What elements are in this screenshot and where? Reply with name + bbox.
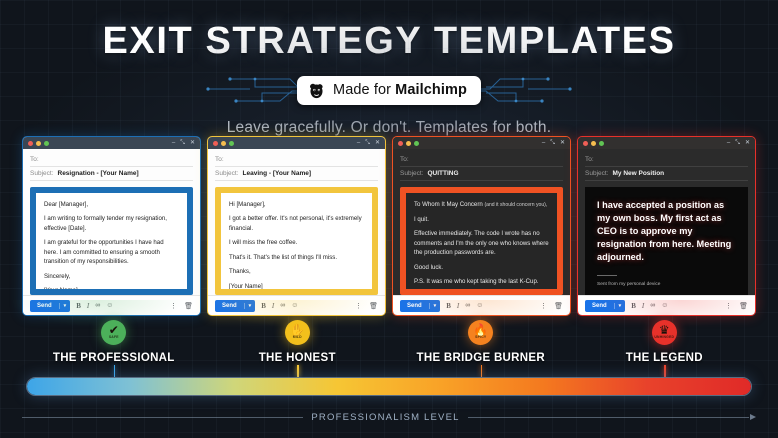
card-body[interactable]: Hi [Manager],I got a better offer. It's …: [208, 183, 385, 295]
toolbar-right: ⋮🗑: [540, 302, 563, 310]
close-icon[interactable]: ✕: [190, 140, 195, 146]
bold-icon[interactable]: B: [446, 302, 451, 310]
meter-tick-4: [664, 365, 666, 377]
minimize-dot-icon[interactable]: [221, 141, 226, 146]
bold-icon[interactable]: B: [631, 302, 636, 310]
professionalism-meter[interactable]: [26, 377, 752, 396]
subject-field[interactable]: Subject:QUITTING: [400, 167, 563, 181]
subject-label: Subject:: [400, 170, 424, 177]
more-options-icon[interactable]: ⋮: [540, 302, 547, 310]
minimize-icon[interactable]: –: [727, 140, 730, 146]
send-options-caret-icon[interactable]: ▾: [429, 303, 441, 309]
meter-ticks: [22, 365, 756, 377]
subject-label: Subject:: [30, 170, 54, 177]
delete-icon[interactable]: 🗑: [554, 302, 563, 310]
body-paragraph: P.S. It was me who kept taking the last …: [414, 277, 549, 286]
axis-line-right: [468, 417, 749, 418]
legend-headline: I have accepted a position as my own bos…: [597, 199, 736, 264]
link-icon[interactable]: ∞: [95, 302, 100, 309]
page-subtitle: Leave gracefully. Or don't. Templates fo…: [0, 119, 778, 137]
more-options-icon[interactable]: ⋮: [355, 302, 362, 310]
email-card-2[interactable]: –⤡✕To:Subject:Leaving - [Your Name]Hi [M…: [207, 136, 386, 316]
template-card-row: –⤡✕To:Subject:Resignation - [Your Name]D…: [22, 136, 756, 316]
close-dot-icon[interactable]: [213, 141, 218, 146]
meter-axis: PROFESSIONALISM LEVEL: [22, 404, 756, 430]
send-button[interactable]: Send▾: [585, 300, 625, 312]
badge-level-label: SPICY: [475, 336, 486, 339]
to-label: To:: [585, 156, 594, 163]
persona-badge: 🔥SPICY: [468, 320, 493, 345]
to-field[interactable]: To:: [30, 153, 193, 167]
zoom-dot-icon[interactable]: [599, 141, 604, 146]
mailchimp-badge-text: Made for Mailchimp: [333, 82, 467, 98]
minimize-icon[interactable]: –: [542, 140, 545, 146]
format-icons: BI∞☺: [76, 302, 113, 310]
compose-toolbar: Send▾BI∞☺⋮🗑: [578, 295, 755, 315]
subject-value: Resignation - [Your Name]: [58, 170, 139, 177]
italic-icon[interactable]: I: [642, 302, 644, 310]
persona-row: ✔SAFETHE PROFESSIONAL✋MILDTHE HONEST🔥SPI…: [22, 320, 756, 368]
email-card-3[interactable]: –⤡✕To:Subject:QUITTINGTo Whom It May Con…: [392, 136, 571, 316]
send-label: Send: [215, 303, 244, 309]
legend-message: I have accepted a position as my own bos…: [585, 187, 748, 295]
persona-badge: ♛UNHINGED: [652, 320, 677, 345]
maximize-icon[interactable]: ⤡: [550, 140, 555, 146]
card-header-fields: To:Subject:QUITTING: [393, 149, 570, 183]
emoji-icon[interactable]: ☺: [476, 302, 483, 309]
bold-icon[interactable]: B: [261, 302, 266, 310]
minimize-icon[interactable]: –: [357, 140, 360, 146]
body-paragraph: I got a better offer. It's not personal,…: [229, 214, 364, 233]
traffic-lights: [213, 141, 234, 146]
card-header-fields: To:Subject:My New Position: [578, 149, 755, 183]
link-icon[interactable]: ∞: [650, 302, 655, 309]
body-paragraph: I quit.: [414, 215, 549, 224]
to-field[interactable]: To:: [400, 153, 563, 167]
card-header-fields: To:Subject:Leaving - [Your Name]: [208, 149, 385, 183]
close-icon[interactable]: ✕: [375, 140, 380, 146]
body-paragraph: [Your Name]: [44, 286, 179, 289]
send-button[interactable]: Send▾: [400, 300, 440, 312]
subject-field[interactable]: Subject:Resignation - [Your Name]: [30, 167, 193, 181]
close-dot-icon[interactable]: [583, 141, 588, 146]
subject-label: Subject:: [585, 170, 609, 177]
card-body[interactable]: Dear [Manager],I am writing to formally …: [23, 183, 200, 295]
mailchimp-icon: [307, 81, 326, 100]
delete-icon[interactable]: 🗑: [739, 302, 748, 310]
accent-panel: Dear [Manager],I am writing to formally …: [30, 187, 193, 295]
send-options-caret-icon[interactable]: ▾: [244, 303, 256, 309]
window-controls: –⤡✕: [727, 140, 750, 146]
meter-tick-3: [481, 365, 483, 377]
format-icons: BI∞☺: [631, 302, 668, 310]
persona-3: 🔥SPICYTHE BRIDGE BURNER: [389, 320, 573, 368]
traffic-lights: [28, 141, 49, 146]
send-options-caret-icon[interactable]: ▾: [59, 303, 71, 309]
accent-panel: To Whom It May Concern (and it should co…: [400, 187, 563, 295]
badge-level-label: UNHINGED: [654, 336, 674, 339]
close-dot-icon[interactable]: [398, 141, 403, 146]
italic-icon[interactable]: I: [87, 302, 89, 310]
emoji-icon[interactable]: ☺: [106, 302, 113, 309]
subject-value: My New Position: [613, 170, 665, 177]
legend-signature: Sent from my personal device: [597, 282, 736, 287]
send-button[interactable]: Send▾: [30, 300, 70, 312]
body-paragraph: Hi [Manager],: [229, 200, 364, 209]
meter-gradient-fill: [27, 378, 751, 395]
persona-name: THE LEGEND: [626, 352, 703, 364]
window-controls: –⤡✕: [542, 140, 565, 146]
subject-value: QUITTING: [428, 170, 459, 177]
page-title: EXIT STRATEGY TEMPLATES: [0, 0, 778, 60]
bold-icon[interactable]: B: [76, 302, 81, 310]
persona-name: THE PROFESSIONAL: [53, 352, 175, 364]
format-icons: BI∞☺: [261, 302, 298, 310]
window-controls: –⤡✕: [172, 140, 195, 146]
body-paragraph: Sincerely,: [44, 272, 179, 281]
body-paragraph: Good luck.: [414, 263, 549, 272]
emoji-icon[interactable]: ☺: [291, 302, 298, 309]
subject-field[interactable]: Subject:Leaving - [Your Name]: [215, 167, 378, 181]
badge-prefix: Made for: [333, 82, 395, 98]
accent-panel: Hi [Manager],I got a better offer. It's …: [215, 187, 378, 295]
subject-field[interactable]: Subject:My New Position: [585, 167, 748, 181]
axis-line-left: [22, 417, 303, 418]
message-body: Dear [Manager],I am writing to formally …: [36, 193, 187, 289]
close-dot-icon[interactable]: [28, 141, 33, 146]
maximize-icon[interactable]: ⤡: [365, 140, 370, 146]
card-titlebar: –⤡✕: [208, 137, 385, 149]
send-label: Send: [400, 303, 429, 309]
compose-toolbar: Send▾BI∞☺⋮🗑: [23, 295, 200, 315]
minimize-dot-icon[interactable]: [406, 141, 411, 146]
body-paragraph: I am grateful for the opportunities I ha…: [44, 238, 179, 266]
persona-2: ✋MILDTHE HONEST: [206, 320, 390, 368]
delete-icon[interactable]: 🗑: [184, 302, 193, 310]
persona-1: ✔SAFETHE PROFESSIONAL: [22, 320, 206, 368]
traffic-lights: [398, 141, 419, 146]
body-paragraph: Dear [Manager],: [44, 200, 179, 209]
to-label: To:: [30, 156, 39, 163]
persona-4: ♛UNHINGEDTHE LEGEND: [573, 320, 757, 368]
axis-arrow-icon: [750, 414, 756, 420]
persona-name: THE BRIDGE BURNER: [417, 352, 545, 364]
persona-badge: ✋MILD: [285, 320, 310, 345]
card-body[interactable]: To Whom It May Concern (and it should co…: [393, 183, 570, 295]
italic-icon[interactable]: I: [457, 302, 459, 310]
card-body[interactable]: I have accepted a position as my own bos…: [578, 183, 755, 295]
more-options-icon[interactable]: ⋮: [725, 302, 732, 310]
poster-canvas: EXIT STRATEGY TEMPLATES: [0, 0, 778, 438]
toolbar-right: ⋮🗑: [725, 302, 748, 310]
signature-divider: [597, 275, 617, 276]
delete-icon[interactable]: 🗑: [369, 302, 378, 310]
badge-level-label: SAFE: [109, 336, 119, 339]
persona-name: THE HONEST: [259, 352, 336, 364]
body-paragraph: Effective immediately. The code I wrote …: [414, 229, 549, 257]
message-body: To Whom It May Concern (and it should co…: [406, 193, 557, 289]
persona-badge: ✔SAFE: [101, 320, 126, 345]
badge-brand: Mailchimp: [395, 82, 467, 98]
window-controls: –⤡✕: [357, 140, 380, 146]
meter-tick-2: [297, 365, 299, 377]
send-options-caret-icon[interactable]: ▾: [614, 303, 626, 309]
send-button[interactable]: Send▾: [215, 300, 255, 312]
body-paragraph: That's it. That's the list of things I'l…: [229, 253, 364, 262]
maximize-icon[interactable]: ⤡: [180, 140, 185, 146]
card-titlebar: –⤡✕: [578, 137, 755, 149]
more-options-icon[interactable]: ⋮: [170, 302, 177, 310]
zoom-dot-icon[interactable]: [229, 141, 234, 146]
compose-toolbar: Send▾BI∞☺⋮🗑: [393, 295, 570, 315]
body-paragraph: [Your Name]: [229, 282, 364, 289]
link-icon[interactable]: ∞: [280, 302, 285, 309]
toolbar-right: ⋮🗑: [355, 302, 378, 310]
subject-label: Subject:: [215, 170, 239, 177]
to-field[interactable]: To:: [585, 153, 748, 167]
send-label: Send: [585, 303, 614, 309]
to-field[interactable]: To:: [215, 153, 378, 167]
badge-level-label: MILD: [293, 336, 302, 339]
email-card-4[interactable]: –⤡✕To:Subject:My New PositionI have acce…: [577, 136, 756, 316]
body-paragraph: I will miss the free coffee.: [229, 238, 364, 247]
emoji-icon[interactable]: ☺: [661, 302, 668, 309]
zoom-dot-icon[interactable]: [44, 141, 49, 146]
italic-icon[interactable]: I: [272, 302, 274, 310]
body-paragraph: I am writing to formally tender my resig…: [44, 214, 179, 233]
card-titlebar: –⤡✕: [393, 137, 570, 149]
to-label: To:: [400, 156, 409, 163]
card-titlebar: –⤡✕: [23, 137, 200, 149]
body-paragraph: To Whom It May Concern (and it should co…: [414, 200, 549, 210]
message-body: Hi [Manager],I got a better offer. It's …: [221, 193, 372, 289]
email-card-1[interactable]: –⤡✕To:Subject:Resignation - [Your Name]D…: [22, 136, 201, 316]
format-icons: BI∞☺: [446, 302, 483, 310]
send-label: Send: [30, 303, 59, 309]
minimize-dot-icon[interactable]: [591, 141, 596, 146]
subject-value: Leaving - [Your Name]: [243, 170, 312, 177]
close-icon[interactable]: ✕: [560, 140, 565, 146]
minimize-icon[interactable]: –: [172, 140, 175, 146]
body-paragraph: Thanks,: [229, 267, 364, 276]
card-header-fields: To:Subject:Resignation - [Your Name]: [23, 149, 200, 183]
link-icon[interactable]: ∞: [465, 302, 470, 309]
meter-tick-1: [114, 365, 116, 377]
maximize-icon[interactable]: ⤡: [735, 140, 740, 146]
to-label: To:: [215, 156, 224, 163]
close-icon[interactable]: ✕: [745, 140, 750, 146]
compose-toolbar: Send▾BI∞☺⋮🗑: [208, 295, 385, 315]
minimize-dot-icon[interactable]: [36, 141, 41, 146]
made-for-mailchimp-row: Made for Mailchimp: [0, 73, 778, 107]
toolbar-right: ⋮🗑: [170, 302, 193, 310]
zoom-dot-icon[interactable]: [414, 141, 419, 146]
axis-label: PROFESSIONALISM LEVEL: [311, 412, 459, 423]
made-for-mailchimp-badge[interactable]: Made for Mailchimp: [297, 76, 481, 105]
traffic-lights: [583, 141, 604, 146]
